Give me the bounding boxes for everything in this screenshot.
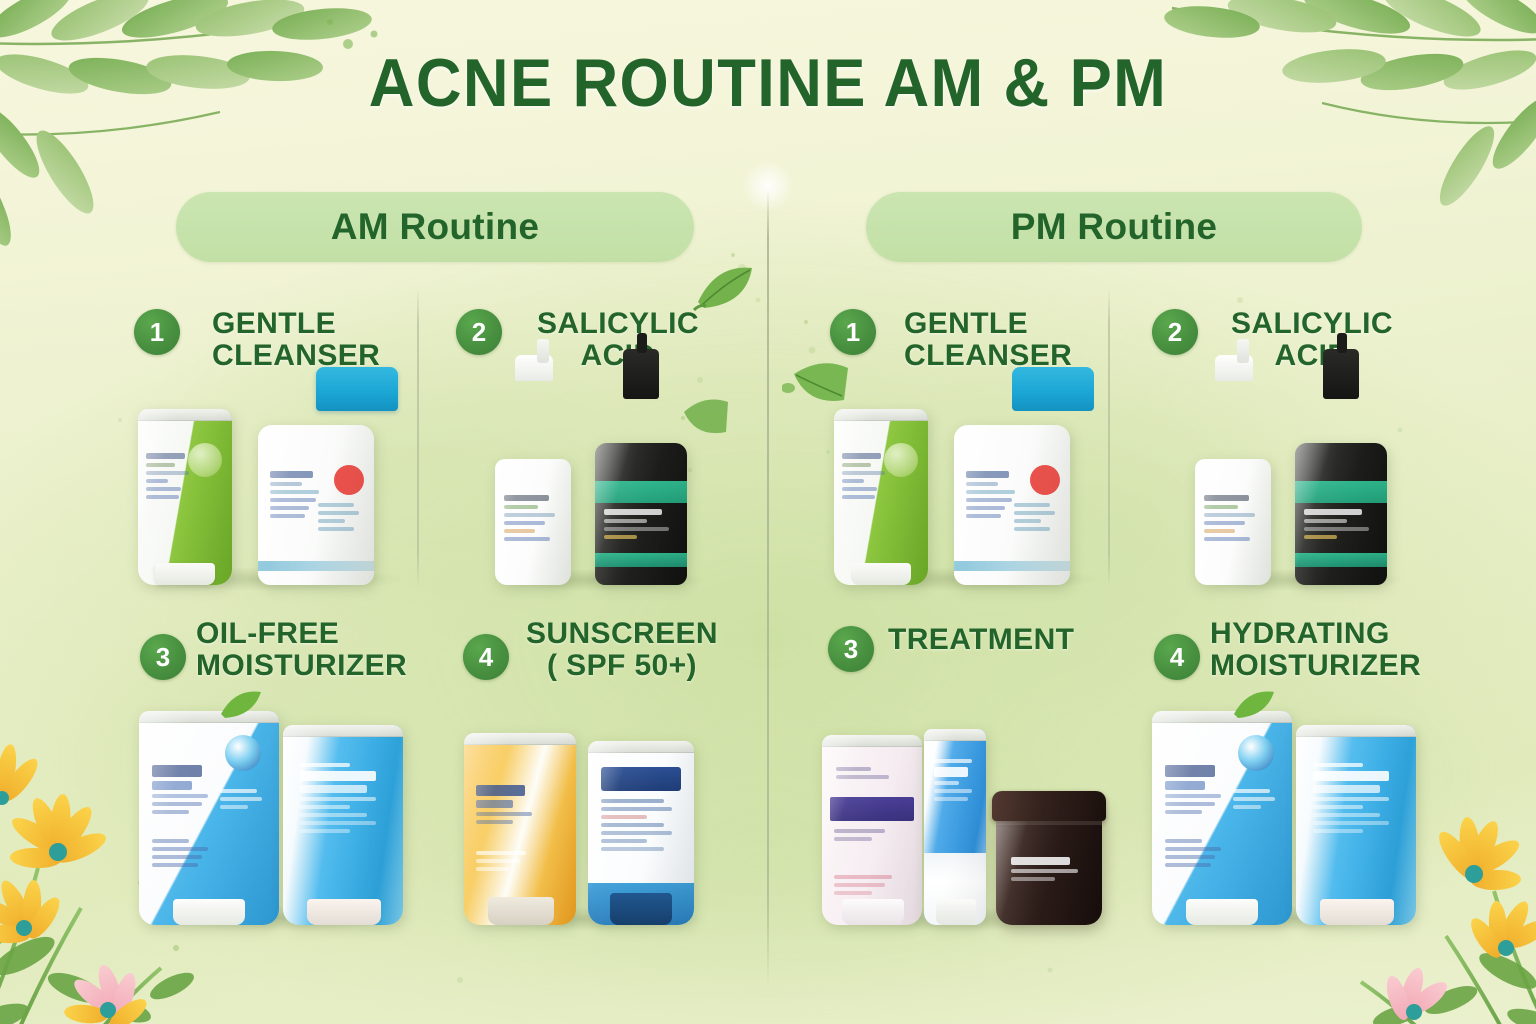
tube-crimp [1296,725,1416,737]
tube-brand-band [830,797,914,821]
product-pump-bottle [495,459,571,585]
tube-cap [610,893,672,925]
product-label-lines [1233,789,1281,809]
step-am-4-badge: 4 [463,634,509,680]
step-pm-1-badge: 1 [830,309,876,355]
pump-stem [1237,339,1249,363]
products-am-4 [458,700,708,925]
step-pm-4-label: HYDRATING MOISTURIZER [1210,618,1421,682]
step-am-3-label: OIL-FREE MOISTURIZER [196,618,407,682]
tube-cap [173,899,245,925]
dropper-cap [1323,349,1359,399]
tube-emblem [1238,735,1274,771]
product-cleanser-tube [834,409,928,585]
step-pm-3: 3 TREATMENT [820,618,1120,710]
tube-crimp [283,725,403,737]
product-treatment-tube-blue [924,729,986,925]
tube-leaf-emblem [188,443,222,477]
product-label-lines [834,875,900,895]
bottle-cap [1012,367,1094,411]
product-label-lines [270,471,326,518]
bottle-red-badge [1030,465,1060,495]
step-am-3-badge: 3 [140,634,186,680]
tube-crimp [139,711,279,723]
products-pm-1 [826,395,1111,585]
am-pm-divider [767,190,769,990]
tube-cap [936,899,976,925]
step-pm-3-label: TREATMENT [888,624,1074,656]
product-cleanser-tube [138,409,232,585]
tube-crimp [1152,711,1292,723]
product-label-lines [476,851,532,871]
product-label-lines [604,509,678,539]
dropper-top-band [595,481,687,503]
bottle-bottom-band [954,561,1070,571]
product-moisturizer-tube-b [283,725,403,925]
product-label-lines [300,763,386,833]
step-am-2-badge: 2 [456,309,502,355]
step-pm-2-head: 2 SALICYLIC ACID [1146,300,1436,392]
product-moisturizer-tube-a [1152,711,1292,925]
tube-brand-band [601,767,682,791]
tube-cap [488,897,554,925]
step-am-4-head: 4 SUNSCREEN ( SPF 50+) [455,612,755,704]
products-pm-3 [818,700,1098,925]
product-label-lines [836,767,896,779]
product-moisturizer-tube-a [139,711,279,925]
step-am-3: 3 OIL-FREE MOISTURIZER [132,612,432,704]
products-am-1 [130,395,415,585]
products-pm-2 [1185,395,1415,585]
product-label-lines [1304,509,1378,539]
tube-cap [155,563,215,585]
step-pm-4: 4 HYDRATING MOISTURIZER [1146,612,1456,704]
step-am-2-head: 2 SALICYLIC ACID [450,300,740,392]
product-label-lines [966,471,1022,518]
product-label-lines [834,829,900,841]
product-cleanser-bottle [954,425,1070,585]
dropper-top-band [1295,481,1387,503]
product-label-lines [1165,765,1229,814]
tube-leaf-emblem [884,443,918,477]
product-dropper-bottle [1295,443,1387,585]
dropper-tip [1337,333,1347,353]
product-label-lines [476,785,539,824]
step-pm-3-badge: 3 [828,626,874,672]
tube-crimp [822,735,922,747]
am-routine-header: AM Routine [176,192,694,262]
product-dropper-bottle [595,443,687,585]
step-am-3-head: 3 OIL-FREE MOISTURIZER [132,612,432,704]
pm-routine-label: PM Routine [1011,206,1217,248]
tube-cap [1320,899,1394,925]
step-am-4: 4 SUNSCREEN ( SPF 50+) [455,612,755,704]
product-label-lines [601,799,682,851]
products-pm-4 [1148,700,1428,925]
product-moisturizer-tube-b [1296,725,1416,925]
tube-crimp [588,741,694,753]
am-routine-label: AM Routine [331,206,540,248]
product-label-lines [504,495,562,541]
product-label-lines [220,789,268,809]
jar-lid [992,791,1106,821]
bottle-bottom-band [258,561,374,571]
step-pm-2: 2 SALICYLIC ACID [1146,300,1436,392]
dropper-cap [623,349,659,399]
product-label-lines [152,839,216,867]
pm-routine-header: PM Routine [866,192,1362,262]
step-pm-4-badge: 4 [1154,634,1200,680]
tube-cap [307,899,381,925]
tube-crimp [924,729,986,741]
product-label-lines [1014,503,1060,531]
product-treatment-tube-pink [822,735,922,925]
step-pm-1-label: GENTLE CLEANSER [904,308,1072,372]
product-label-lines [152,765,216,814]
products-am-2 [485,395,715,585]
tube-crimp [464,733,576,745]
tube-crimp [834,409,928,421]
product-label-lines [1011,857,1087,881]
tube-cap [851,563,911,585]
product-label-lines [1165,839,1229,867]
dropper-bottom-band [1295,553,1387,567]
dropper-bottom-band [595,553,687,567]
tube-crimp [138,409,232,421]
step-am-4-label: SUNSCREEN ( SPF 50+) [517,618,727,682]
step-am-1-badge: 1 [134,309,180,355]
bottle-cap [316,367,398,411]
product-label-lines [1313,763,1399,833]
pump-stem [537,339,549,363]
product-cleanser-bottle [258,425,374,585]
tube-cap [842,899,904,925]
products-am-3 [135,700,415,925]
bottle-red-badge [334,465,364,495]
tube-cap [1186,899,1258,925]
step-pm-4-head: 4 HYDRATING MOISTURIZER [1146,612,1456,704]
tube-emblem [225,735,261,771]
dropper-tip [637,333,647,353]
product-label-lines [318,503,364,531]
product-label-lines [1204,495,1262,541]
page-title: ACNE ROUTINE AM & PM [54,44,1482,122]
step-am-2: 2 SALICYLIC ACID [450,300,740,392]
product-label-lines [934,759,977,801]
step-am-1-label: GENTLE CLEANSER [212,308,380,372]
product-pump-bottle [1195,459,1271,585]
step-pm-2-badge: 2 [1152,309,1198,355]
step-pm-3-head: 3 TREATMENT [820,618,1120,710]
